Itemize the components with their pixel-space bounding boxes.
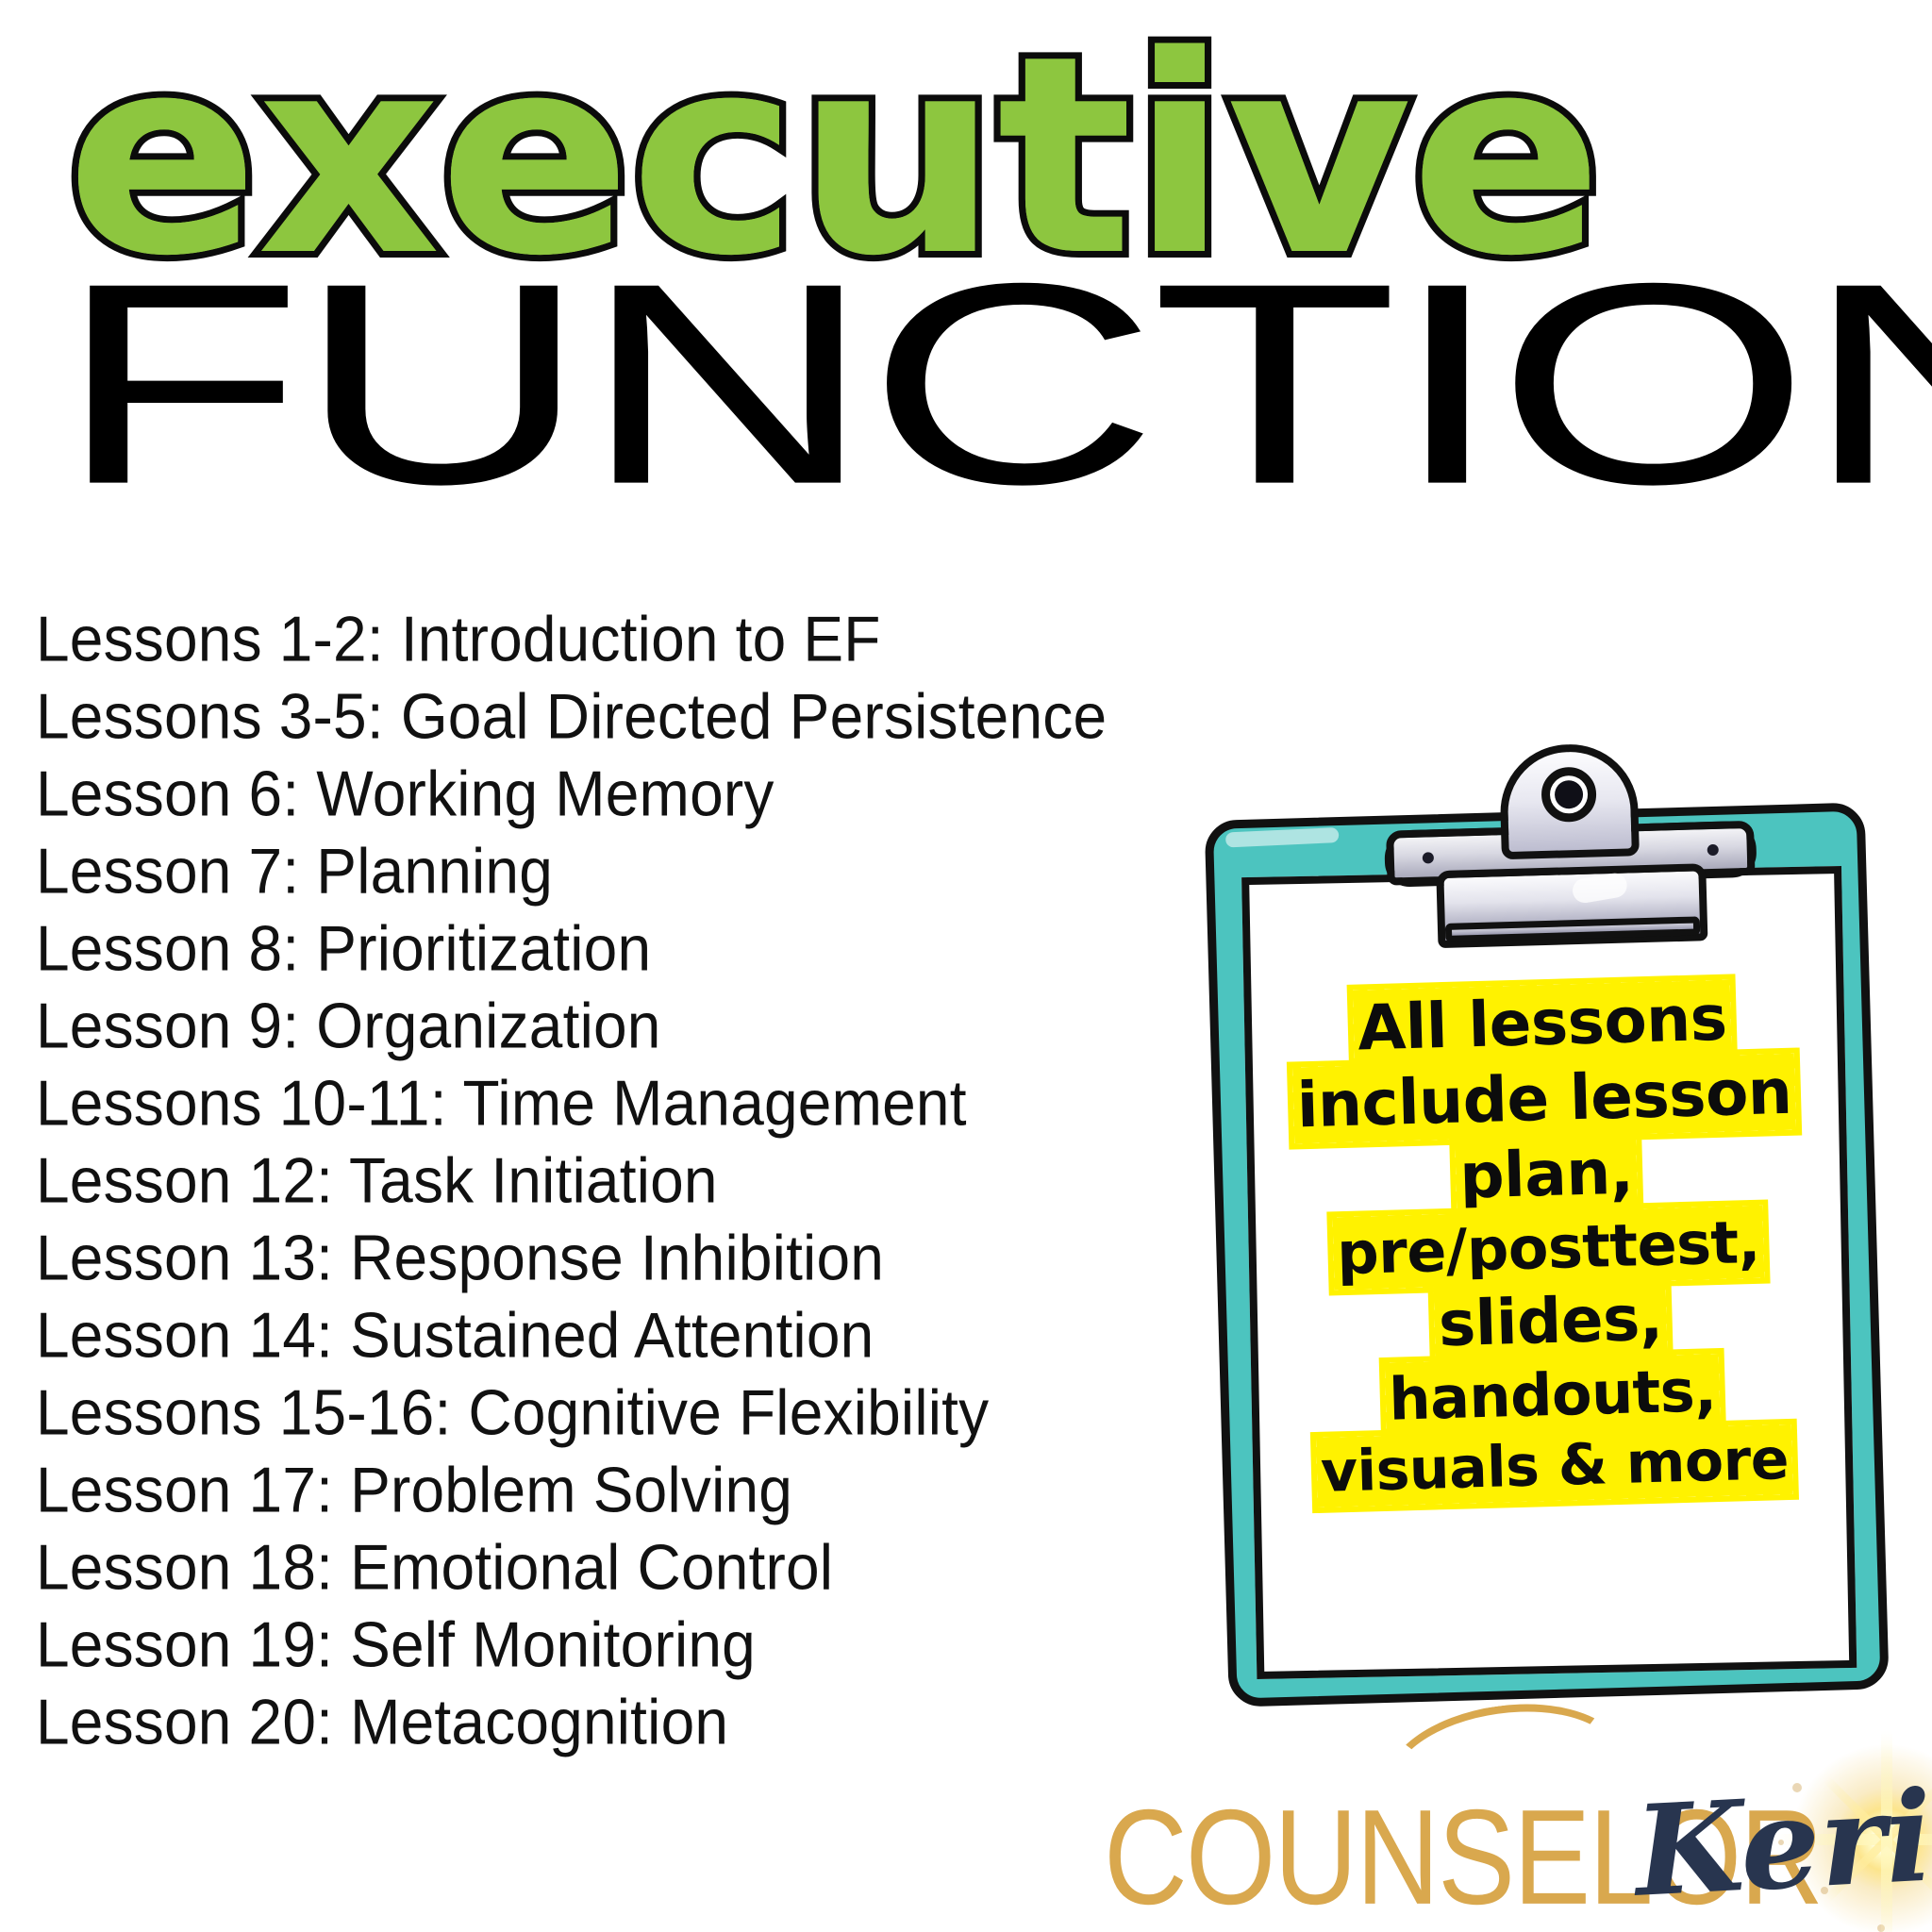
poster-canvas: executive executive FUNCTIONS Lessons 1-…	[0, 0, 1932, 1932]
lesson-list-item: Lesson 8: Prioritization	[36, 908, 1224, 990]
sparkle-dust	[1877, 1924, 1885, 1932]
lesson-list-item: Lesson 13: Response Inhibition	[36, 1217, 1224, 1299]
lesson-list-item: Lesson 17: Problem Solving	[36, 1449, 1224, 1531]
note-line: pre/posttest,	[1265, 1211, 1832, 1286]
lesson-list-item: Lesson 12: Task Initiation	[36, 1140, 1224, 1222]
lesson-list-item: Lesson 6: Working Memory	[36, 753, 1224, 835]
note-line: handouts,	[1269, 1358, 1836, 1433]
lesson-list-item: Lesson 7: Planning	[36, 830, 1224, 912]
clipboard-clip-icon	[1383, 730, 1757, 958]
lesson-list-item: Lessons 10-11: Time Management	[36, 1062, 1224, 1144]
logo-word-keri: Keri	[1632, 1774, 1932, 1914]
lesson-list-item: Lesson 9: Organization	[36, 985, 1224, 1067]
note-line: plan,	[1262, 1136, 1830, 1214]
lesson-list: Lessons 1-2: Introduction to EF Lessons …	[36, 600, 1224, 1760]
clipboard-note: All lessons include lesson plan, pre/pos…	[1258, 985, 1839, 1516]
note-line: slides,	[1267, 1283, 1835, 1361]
poster-title: executive executive FUNCTIONS	[0, 0, 1932, 566]
lesson-list-item: Lesson 18: Emotional Control	[36, 1526, 1224, 1608]
clipboard-illustration: All lessons include lesson plan, pre/pos…	[1149, 784, 1932, 1749]
lesson-list-item: Lesson 14: Sustained Attention	[36, 1294, 1224, 1376]
note-line: include lesson	[1260, 1060, 1828, 1139]
lesson-list-item: Lessons 3-5: Goal Directed Persistence	[36, 675, 1224, 758]
lesson-list-item: Lesson 20: Metacognition	[36, 1681, 1224, 1763]
title-line-functions: FUNCTIONS	[57, 241, 1932, 527]
note-line: visuals & more	[1271, 1430, 1838, 1503]
lesson-list-item: Lesson 19: Self Monitoring	[36, 1604, 1224, 1686]
brand-logo: COUNSELOR Keri	[1104, 1774, 1932, 1932]
lesson-list-item: Lessons 1-2: Introduction to EF	[36, 598, 1224, 680]
lesson-list-item: Lessons 15-16: Cognitive Flexibility	[36, 1372, 1224, 1454]
